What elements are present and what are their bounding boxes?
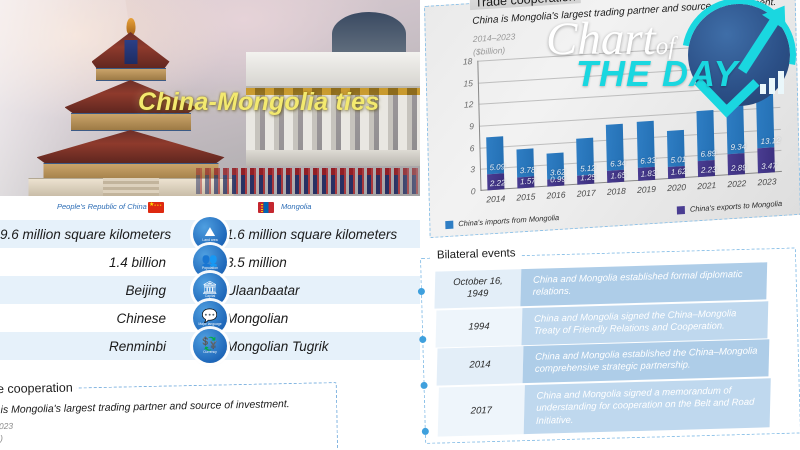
event-row: 2017China and Mongolia signed a memorand… [438, 378, 771, 436]
event-date: 1994 [436, 308, 523, 347]
bar-segment-exports: 2.23 [698, 160, 715, 177]
page-title: China-Mongolia ties [138, 88, 379, 117]
bar-segment-imports: 5.01 [667, 130, 685, 167]
event-description: China and Mongolia signed a memorandum o… [524, 378, 771, 434]
chart-unit-label: ($billion) [473, 45, 505, 57]
bar-segment-exports: 1.57 [517, 176, 534, 188]
event-date: 2014 [437, 347, 524, 386]
bar-segment-imports: 5.09 [486, 137, 504, 175]
trade-cooperation-chart-panel: Trade cooperation China is Mongolia's la… [424, 0, 800, 238]
chart-bar: 6.331.832019 [636, 121, 654, 181]
chart-bar: 6.341.652018 [606, 124, 624, 183]
chart-bar: 3.620.992016 [547, 152, 565, 186]
bar-value-label-exports: 1.25 [580, 173, 596, 183]
events-title: Bilateral events [432, 247, 521, 261]
temple-door [124, 40, 137, 64]
x-axis-tick-label: 2018 [607, 186, 626, 197]
bar-segment-imports: 13.12 [755, 52, 774, 148]
capital-icon-glyph: 🏛 [202, 281, 219, 294]
chart-bar: 5.092.222014 [486, 137, 504, 191]
comparison-row: Beijing🏛CapitalUlaanbaatar [0, 276, 420, 304]
x-axis-tick-label: 2023 [757, 176, 776, 187]
timeline-dot [417, 288, 424, 295]
x-axis-tick-label: 2022 [727, 178, 746, 189]
chart-gridline [478, 63, 779, 83]
bar-segment-imports: 6.89 [696, 110, 714, 161]
hero-image: China-Mongolia ties [0, 0, 420, 196]
left-country-label: People's Republic of China [57, 202, 147, 211]
trade-panel-unit: ($billion) [0, 433, 3, 444]
comparison-row: Renminbi💱CurrencyMongolian Tugrik [0, 332, 420, 360]
bar-segment-exports: 0.99 [547, 178, 564, 186]
chart-bar: 3.781.572015 [516, 149, 534, 189]
temple-band-1 [96, 68, 166, 81]
bar-value-label-exports: 1.65 [610, 171, 626, 181]
events-rows: October 16,1949China and Mongolia establ… [434, 262, 770, 433]
bar-segment-imports: 3.78 [516, 149, 534, 177]
population-icon-label: Population [202, 267, 218, 271]
event-date: October 16,1949 [434, 269, 521, 308]
comparison-left-value: 9.6 million square kilometers [0, 227, 196, 242]
bar-segment-imports: 6.33 [636, 121, 654, 168]
comparison-rows: 9.6 million square kilometers⛰Land area1… [0, 220, 420, 360]
bar-value-label-imports: 6.89 [700, 149, 716, 159]
x-axis-tick-label: 2014 [486, 193, 505, 204]
currency-icon: 💱Currency [193, 329, 227, 363]
bar-value-label-exports: 2.89 [731, 163, 747, 173]
bar-value-label-imports: 6.33 [640, 156, 656, 166]
temple-roof-bottom [37, 130, 225, 164]
bar-value-label-exports: 2.22 [490, 178, 506, 188]
bar-segment-exports: 1.83 [638, 167, 655, 181]
x-axis-tick-label: 2020 [667, 182, 686, 193]
legend-swatch-exports [677, 206, 685, 215]
bar-segment-imports: 6.34 [606, 124, 624, 171]
chart-bar: 13.123.472023 [755, 52, 775, 173]
bar-segment-exports: 2.22 [487, 173, 504, 190]
chart-bar: 5.011.622020 [667, 130, 685, 179]
y-axis-tick-label: 0 [471, 186, 476, 196]
land-area-icon-label: Land area [202, 239, 217, 243]
comparison-left-value: Chinese [0, 311, 196, 326]
chart-bar: 5.121.252017 [576, 138, 594, 185]
bar-segment-imports: 5.12 [576, 138, 594, 176]
comparison-left-value: Beijing [0, 283, 196, 298]
chart-bar: 9.342.892022 [726, 86, 745, 175]
bar-value-label-exports: 3.47 [761, 161, 777, 171]
population-icon-glyph: 👥 [202, 253, 218, 266]
trade-panel-period: 2014–2023 [0, 421, 13, 432]
bar-value-label-imports: 5.09 [489, 162, 505, 172]
bar-value-label-imports: 5.01 [670, 155, 686, 165]
bar-segment-exports: 2.89 [728, 153, 745, 175]
x-axis-tick-label: 2017 [577, 188, 596, 199]
right-country-label: Mongolia [281, 202, 311, 211]
timeline-dot [421, 428, 428, 435]
event-description: China and Mongolia established formal di… [520, 262, 767, 306]
y-axis-tick-label: 3 [470, 164, 475, 174]
y-axis-tick-label: 15 [463, 78, 473, 89]
chart-plot-area: 03691215185.092.2220143.781.5720153.620.… [477, 42, 782, 191]
bar-value-label-imports: 3.78 [520, 165, 536, 175]
land-area-icon-glyph: ⛰ [205, 225, 216, 238]
timeline-dot [419, 336, 426, 343]
event-description: China and Mongolia established the China… [523, 340, 770, 384]
parliament-plinth [246, 150, 420, 166]
trade-panel-title: Trade cooperation [0, 380, 77, 396]
flag-mongolia-icon [258, 202, 274, 213]
comparison-row: Chinese💬Major languageMongolian [0, 304, 420, 332]
currency-icon-label: Currency [203, 351, 217, 355]
comparison-row: 9.6 million square kilometers⛰Land area1… [0, 220, 420, 248]
major-language-icon-glyph: 💬 [202, 309, 218, 322]
bar-value-label-exports: 1.83 [641, 169, 657, 179]
bilateral-events-panel: Bilateral events October 16,1949China an… [420, 248, 800, 444]
bar-value-label-exports: 2.23 [701, 165, 717, 175]
bar-segment-exports: 1.65 [607, 170, 624, 183]
bar-value-label-exports: 0.99 [550, 174, 566, 184]
bar-segment-imports: 9.34 [726, 86, 745, 155]
honour-guard-row [196, 168, 420, 194]
comparison-right-value: 1.6 million square kilometers [196, 227, 420, 242]
parliament-dome [332, 12, 406, 56]
x-axis-tick-label: 2021 [697, 180, 716, 191]
x-axis-tick-label: 2016 [546, 189, 565, 200]
major-language-icon-label: Major language [198, 323, 221, 327]
legend-swatch-imports [445, 220, 453, 229]
parliament-attic [246, 52, 420, 88]
comparison-right-value: Mongolian [196, 311, 420, 326]
country-comparison-block: People's Republic of China Mongolia 9.6 … [0, 198, 420, 360]
bar-value-label-exports: 1.57 [520, 176, 536, 186]
x-axis-tick-label: 2015 [516, 191, 535, 202]
bar-value-label-exports: 1.62 [671, 167, 687, 177]
comparison-right-value: 3.5 million [196, 255, 420, 270]
comparison-left-value: 1.4 billion [0, 255, 196, 270]
comparison-right-value: Ulaanbaatar [196, 283, 420, 298]
event-row: October 16,1949China and Mongolia establ… [434, 262, 767, 308]
y-axis-tick-label: 12 [464, 99, 474, 110]
y-axis-tick-label: 6 [470, 143, 475, 153]
flag-china-icon [148, 202, 164, 213]
comparison-left-value: Renminbi [0, 339, 196, 354]
timeline-dot [420, 382, 427, 389]
comparison-right-value: Mongolian Tugrik [196, 339, 420, 354]
event-date: 2017 [438, 385, 525, 436]
bar-value-label-imports: 13.12 [760, 136, 780, 146]
bar-value-label-imports: 9.34 [730, 142, 746, 152]
chart-bar: 6.892.232021 [696, 110, 714, 177]
y-axis-tick-label: 18 [463, 56, 473, 67]
trade-cooperation-panel-secondary: Trade cooperation China is Mongolia's la… [0, 382, 339, 450]
bar-segment-exports: 1.25 [577, 175, 594, 185]
temple-steps [103, 178, 159, 196]
currency-icon-glyph: 💱 [202, 337, 218, 350]
honour-guard-caps [196, 168, 420, 175]
capital-icon-label: Capital [205, 295, 216, 299]
bar-segment-exports: 1.62 [668, 166, 685, 179]
x-axis-tick-label: 2019 [637, 184, 656, 195]
event-description: China and Mongolia signed the China–Mong… [521, 301, 768, 345]
y-axis-tick-label: 9 [469, 121, 474, 131]
trade-panel-subtitle: China is Mongolia's largest trading part… [0, 398, 290, 417]
comparison-row: 1.4 billion👥Population3.5 million [0, 248, 420, 276]
bar-value-label-imports: 6.34 [610, 159, 626, 169]
bar-segment-exports: 3.47 [758, 147, 775, 173]
